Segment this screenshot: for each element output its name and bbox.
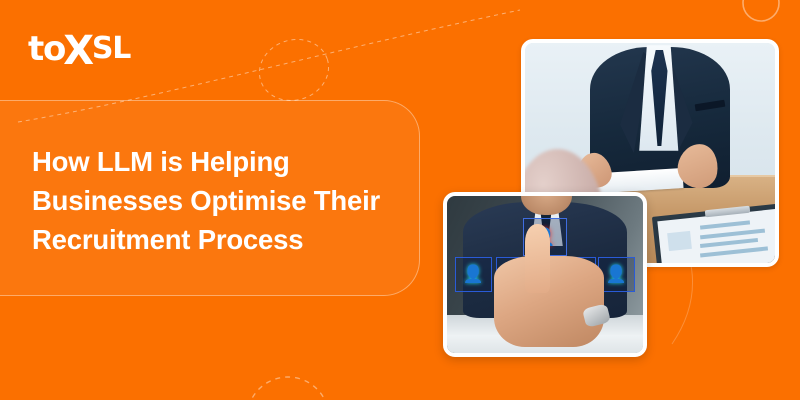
logo-text-x: X [63,31,93,71]
headline-line-3: Recruitment Process [32,224,303,255]
resume-photo-block [667,231,691,251]
dashed-circle-bottom-icon [247,377,329,400]
candidate-selection-photo: 👤 👤 👤 👤 👤 [443,192,647,357]
person-icon: 👤 [463,266,484,283]
circle-outline-top-right-icon [743,0,779,21]
blog-banner: How LLM is Helping Businesses Optimise T… [0,0,800,400]
toxsl-logo[interactable]: toXSL [28,28,130,70]
logo-text-sl: SL [92,34,130,64]
candidate-selection-photo-inner: 👤 👤 👤 👤 👤 [447,196,643,353]
person-icon: 👤 [606,266,627,283]
hologram-node-1[interactable]: 👤 [455,257,492,292]
headline-line-1: How LLM is Helping [32,146,290,177]
headline-line-2: Businesses Optimise Their [32,185,380,216]
dashed-loop-icon [251,31,336,110]
logo-text-to: to [28,32,65,66]
pointing-index-finger [525,224,550,293]
page-title: How LLM is Helping Businesses Optimise T… [32,142,432,259]
